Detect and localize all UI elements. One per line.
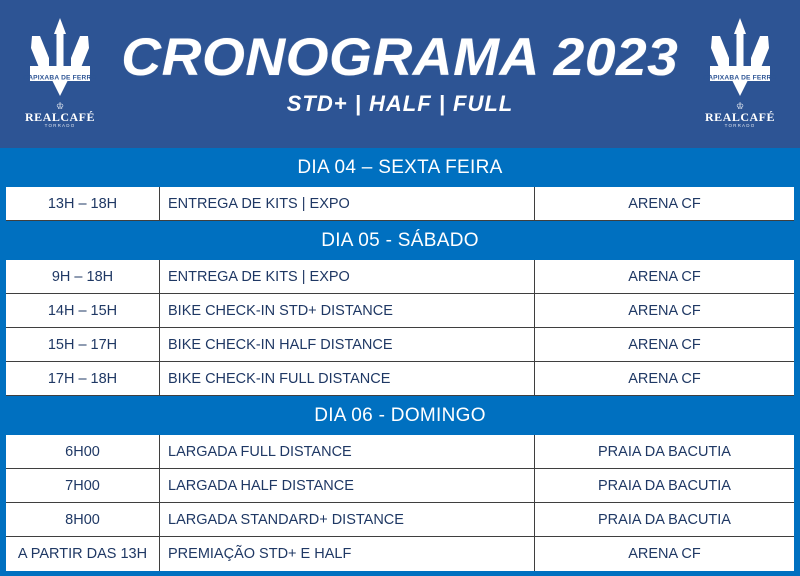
table-row: 17H – 18HBIKE CHECK-IN FULL DISTANCEAREN… <box>6 362 794 396</box>
sponsor-realcafe: ♔ REALCAFÉ TORRADO <box>705 102 775 129</box>
cell-time: 9H – 18H <box>6 260 160 293</box>
day-header-row: DIA 06 - DOMINGO <box>6 396 794 435</box>
cell-activity: LARGADA FULL DISTANCE <box>160 435 535 468</box>
schedule-table: DIA 04 – SEXTA FEIRA13H – 18HENTREGA DE … <box>0 148 800 576</box>
cell-place: ARENA CF <box>535 328 794 361</box>
page-subtitle: STD+ | HALF | FULL <box>132 91 668 117</box>
table-row: 14H – 15HBIKE CHECK-IN STD+ DISTANCEAREN… <box>6 294 794 328</box>
cell-time: 13H – 18H <box>6 187 160 220</box>
cell-activity: BIKE CHECK-IN HALF DISTANCE <box>160 328 535 361</box>
cell-time: 15H – 17H <box>6 328 160 361</box>
cronograma-poster: CAPIXABA DE FERRO ♔ REALCAFÉ TORRADO CRO… <box>0 0 800 571</box>
sponsor-name: REALCAFÉ <box>25 111 95 123</box>
cell-time: 7H00 <box>6 469 160 502</box>
page-title: CRONOGRAMA 2023 <box>121 31 678 85</box>
svg-text:CAPIXABA DE FERRO: CAPIXABA DE FERRO <box>703 74 777 81</box>
cell-activity: ENTREGA DE KITS | EXPO <box>160 260 535 293</box>
sponsor-name: REALCAFÉ <box>705 111 775 123</box>
cell-activity: BIKE CHECK-IN FULL DISTANCE <box>160 362 535 395</box>
cell-time: 8H00 <box>6 503 160 536</box>
header-text-block: CRONOGRAMA 2023 STD+ | HALF | FULL <box>132 31 668 117</box>
arrow-trident-icon: CAPIXABA DE FERRO <box>16 14 104 100</box>
cell-place: ARENA CF <box>535 537 794 571</box>
day-header-row: DIA 05 - SÁBADO <box>6 221 794 260</box>
sponsor-subtitle: TORRADO <box>705 124 775 129</box>
sponsor-realcafe: ♔ REALCAFÉ TORRADO <box>25 102 95 129</box>
table-row: A PARTIR DAS 13HPREMIAÇÃO STD+ E HALFARE… <box>6 537 794 571</box>
cell-place: ARENA CF <box>535 260 794 293</box>
cell-time: 6H00 <box>6 435 160 468</box>
cell-activity: LARGADA STANDARD+ DISTANCE <box>160 503 535 536</box>
table-row: 6H00LARGADA FULL DISTANCEPRAIA DA BACUTI… <box>6 435 794 469</box>
table-row: 9H – 18HENTREGA DE KITS | EXPOARENA CF <box>6 260 794 294</box>
poster-header: CAPIXABA DE FERRO ♔ REALCAFÉ TORRADO CRO… <box>0 0 800 148</box>
cell-place: ARENA CF <box>535 187 794 220</box>
table-row: 15H – 17HBIKE CHECK-IN HALF DISTANCEAREN… <box>6 328 794 362</box>
cell-time: 17H – 18H <box>6 362 160 395</box>
cell-place: PRAIA DA BACUTIA <box>535 503 794 536</box>
table-row: 13H – 18HENTREGA DE KITS | EXPOARENA CF <box>6 187 794 221</box>
cell-place: PRAIA DA BACUTIA <box>535 469 794 502</box>
table-row: 7H00LARGADA HALF DISTANCEPRAIA DA BACUTI… <box>6 469 794 503</box>
cell-time: A PARTIR DAS 13H <box>6 537 160 571</box>
cell-place: ARENA CF <box>535 362 794 395</box>
sponsor-subtitle: TORRADO <box>25 124 95 129</box>
cell-activity: PREMIAÇÃO STD+ E HALF <box>160 537 535 571</box>
cell-activity: LARGADA HALF DISTANCE <box>160 469 535 502</box>
arrow-trident-icon: CAPIXABA DE FERRO <box>696 14 784 100</box>
day-header-row: DIA 04 – SEXTA FEIRA <box>6 148 794 187</box>
logo-capixaba-de-ferro-right: CAPIXABA DE FERRO ♔ REALCAFÉ TORRADO <box>688 14 792 136</box>
table-row: 8H00LARGADA STANDARD+ DISTANCEPRAIA DA B… <box>6 503 794 537</box>
cell-place: ARENA CF <box>535 294 794 327</box>
logo-capixaba-de-ferro-left: CAPIXABA DE FERRO ♔ REALCAFÉ TORRADO <box>8 14 112 136</box>
cell-place: PRAIA DA BACUTIA <box>535 435 794 468</box>
svg-text:CAPIXABA DE FERRO: CAPIXABA DE FERRO <box>23 74 97 81</box>
cell-activity: BIKE CHECK-IN STD+ DISTANCE <box>160 294 535 327</box>
cell-time: 14H – 15H <box>6 294 160 327</box>
cell-activity: ENTREGA DE KITS | EXPO <box>160 187 535 220</box>
